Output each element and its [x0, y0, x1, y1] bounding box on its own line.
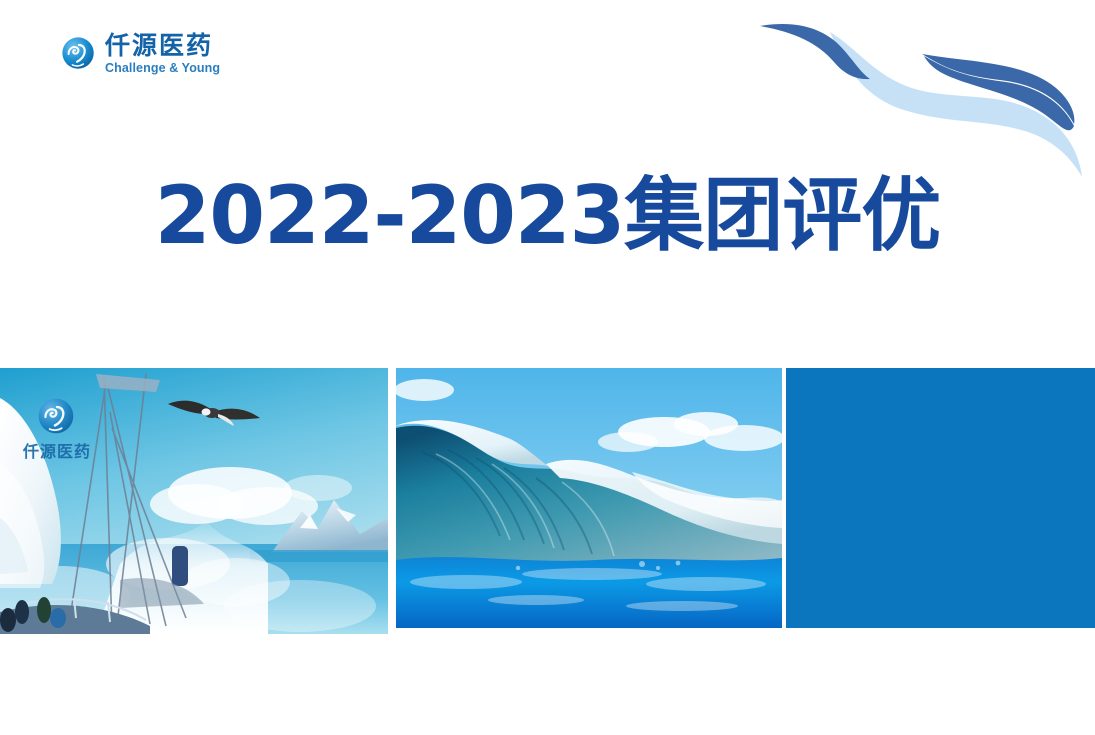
sail-logo-label: 仟源医药	[23, 442, 91, 461]
brand-wordmark: 仟源医药 Challenge & Young	[105, 33, 220, 75]
image-band: 仟源医药	[0, 368, 1095, 634]
brand-logo: 仟源医药 Challenge & Young	[60, 33, 220, 75]
presentation-slide: 仟源医药 Challenge & Young 2022-2023集团评优	[0, 0, 1095, 735]
sail-emblem-overlay: 仟源医药	[14, 396, 100, 462]
sailboat-ocean-photo: 仟源医药	[0, 368, 388, 634]
page-title: 2022-2023集团评优	[0, 168, 1095, 264]
ocean-wave-photo	[396, 368, 782, 628]
brand-english-tagline: Challenge & Young	[105, 62, 220, 75]
company-emblem-icon	[60, 35, 98, 73]
ribbon-swoosh-decoration	[752, 14, 1095, 189]
brand-chinese-name: 仟源医药	[105, 33, 220, 58]
solid-blue-block	[786, 368, 1095, 628]
sail-emblem-icon	[36, 396, 78, 438]
